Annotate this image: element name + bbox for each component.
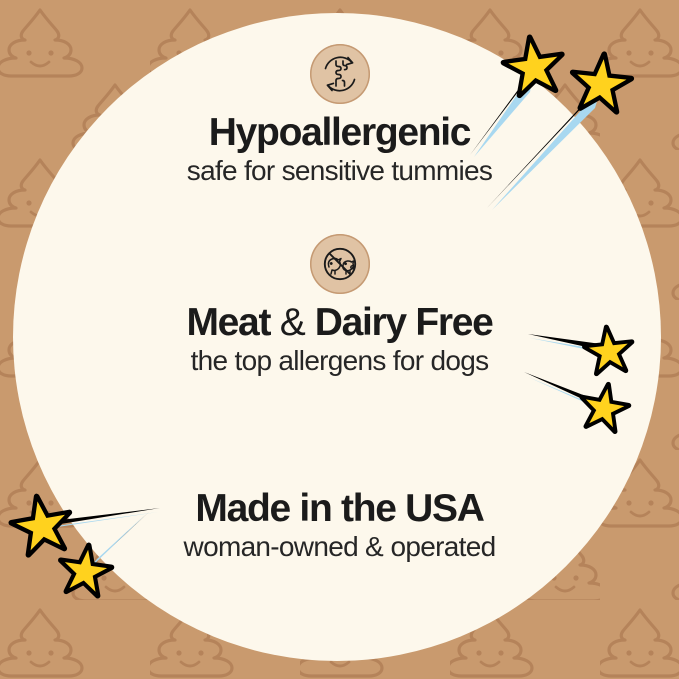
intestine-refresh-icon [310,44,370,104]
promo-graphic: Hypoallergenic safe for sensitive tummie… [0,0,679,679]
feature-subtitle-text-b: operated [383,531,495,562]
feature-title-text: Hypoallergenic [209,111,470,154]
features-list: Hypoallergenic safe for sensitive tummie… [0,0,679,679]
feature-subtitle-ampersand: & [365,531,383,562]
feature-subtitle: the top allergens for dogs [0,346,679,377]
feature-hypoallergenic: Hypoallergenic safe for sensitive tummie… [0,44,679,186]
feature-subtitle: woman-owned & operated [0,532,679,563]
feature-title-text: Made in the USA [195,487,483,530]
feature-meat-dairy-free: Meat & Dairy Free the top allergens for … [0,234,679,376]
feature-title: Meat & Dairy Free [0,303,679,344]
feature-title: Hypoallergenic [0,113,679,154]
feature-title-text-b: Dairy Free [305,301,492,344]
feature-title-ampersand: & [280,301,306,344]
feature-title-text-a: Meat [186,301,279,344]
feature-made-in-usa: Made in the USA woman-owned & operated [0,489,679,562]
feature-title: Made in the USA [0,489,679,530]
no-meat-icon [310,234,370,294]
feature-subtitle-text-a: woman-owned [184,531,365,562]
feature-subtitle: safe for sensitive tummies [0,156,679,187]
